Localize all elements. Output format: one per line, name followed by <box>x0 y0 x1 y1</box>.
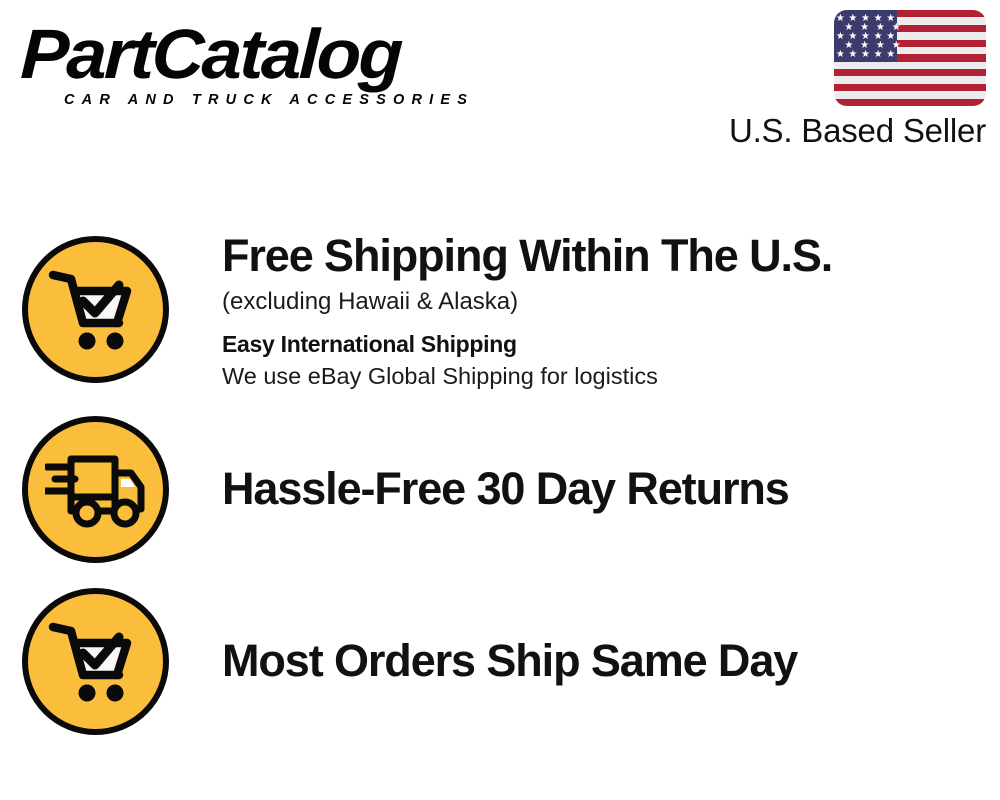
feature-sub-text: We use eBay Global Shipping for logistic… <box>222 360 1000 392</box>
us-based-seller-label: U.S. Based Seller <box>696 111 986 151</box>
feature-icon-wrap <box>0 588 190 735</box>
shopping-cart-check-icon <box>22 588 169 735</box>
feature-list: Free Shipping Within The U.S. (excluding… <box>0 215 1000 747</box>
feature-note: (excluding Hawaii & Alaska) <box>222 285 1000 318</box>
delivery-truck-icon <box>22 416 169 563</box>
feature-icon-wrap <box>0 236 190 383</box>
partcatalog-logo[interactable]: PartCatalog CAR AND TRUCK ACCESSORIES <box>22 18 492 118</box>
feature-row: Hassle-Free 30 Day Returns <box>0 403 1000 575</box>
flag-stripe <box>834 76 986 83</box>
feature-title: Free Shipping Within The U.S. <box>222 230 1000 282</box>
feature-icon-wrap <box>0 416 190 563</box>
feature-text: Free Shipping Within The U.S. (excluding… <box>190 226 1000 392</box>
feature-sub-heading: Easy International Shipping <box>222 328 1000 360</box>
feature-title: Most Orders Ship Same Day <box>222 635 1000 687</box>
shopping-cart-check-icon <box>22 236 169 383</box>
us-based-seller-badge: ★★★★★ ★★★★ ★★★★★ ★★★★ ★★★★★ U.S. Based S… <box>696 10 986 151</box>
brand-tagline: CAR AND TRUCK ACCESSORIES <box>64 92 492 108</box>
feature-row: Most Orders Ship Same Day <box>0 575 1000 747</box>
feature-text: Hassle-Free 30 Day Returns <box>190 463 1000 515</box>
feature-text: Most Orders Ship Same Day <box>190 635 1000 687</box>
flag-stripe <box>834 84 986 91</box>
flag-stripe <box>834 99 986 106</box>
feature-title: Hassle-Free 30 Day Returns <box>222 463 1000 515</box>
flag-stripe <box>834 69 986 76</box>
page-header: PartCatalog CAR AND TRUCK ACCESSORIES ★★… <box>0 0 1000 175</box>
us-flag-icon: ★★★★★ ★★★★ ★★★★★ ★★★★ ★★★★★ <box>834 10 986 106</box>
flag-canton: ★★★★★ ★★★★ ★★★★★ ★★★★ ★★★★★ <box>834 10 897 62</box>
feature-row: Free Shipping Within The U.S. (excluding… <box>0 215 1000 403</box>
flag-stripe <box>834 91 986 98</box>
brand-wordmark: PartCatalog <box>19 18 510 90</box>
flag-stripe <box>834 62 986 69</box>
